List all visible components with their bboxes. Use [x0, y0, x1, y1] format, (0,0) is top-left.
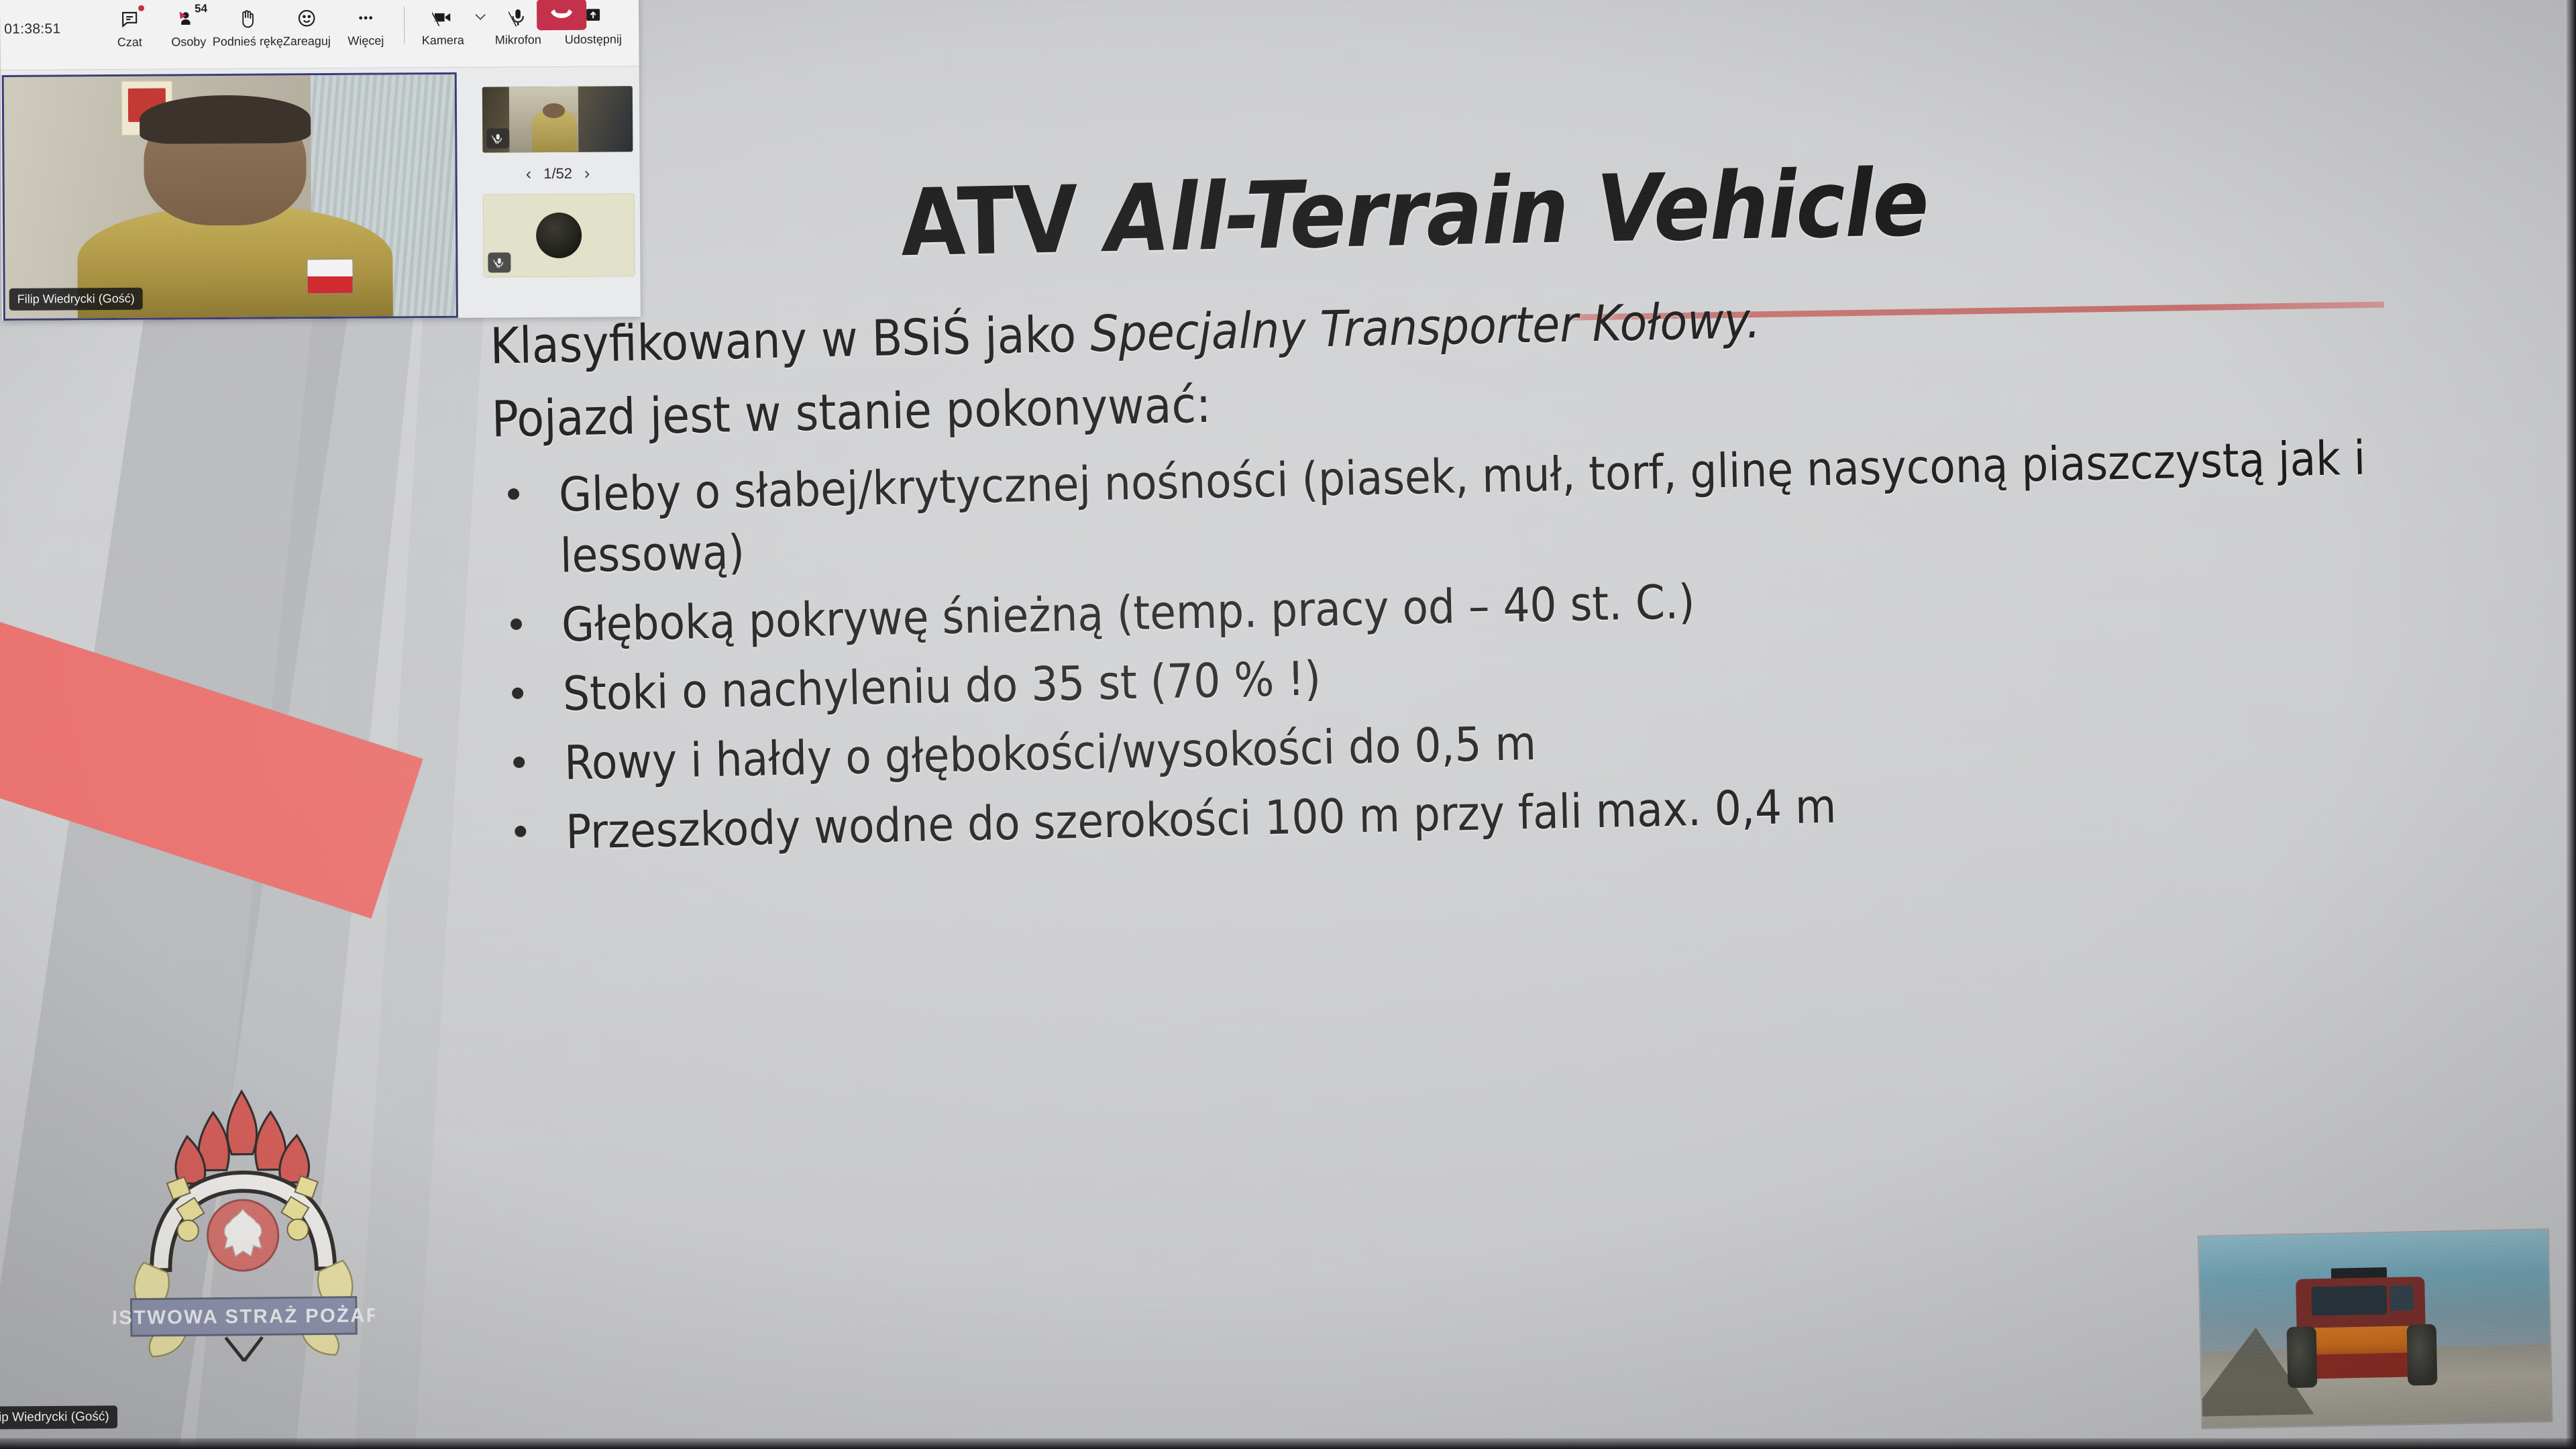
- chat-button-label: Czat: [117, 36, 142, 50]
- photo-edge-right: [2567, 0, 2576, 1449]
- call-duration-timer: 01:38:51: [4, 21, 60, 38]
- uniform-flag-patch: [307, 258, 354, 294]
- pager-count: 1/52: [543, 165, 572, 182]
- people-count-badge: 54: [195, 2, 207, 15]
- slide-title-italic: All-Terrain Vehicle: [1104, 149, 1929, 274]
- share-screen-icon: [584, 2, 602, 32]
- camera-button[interactable]: Kamera: [414, 0, 472, 48]
- teams-meeting-overlay: 01:38:51 Czat: [0, 0, 641, 321]
- bullet-dot-icon: [512, 688, 523, 699]
- people-button-label: Osoby: [171, 35, 206, 49]
- chat-button[interactable]: Czat: [101, 1, 158, 50]
- react-button-label: Zareaguj: [283, 34, 331, 48]
- hangup-button[interactable]: [537, 0, 586, 30]
- atv-vehicle-photo: [2198, 1228, 2553, 1429]
- psp-emblem-logo: PAŃSTWOWA STRAŻ POŻARNA: [111, 1077, 375, 1368]
- raise-hand-icon: [238, 4, 257, 34]
- emblem-banner-text: PAŃSTWOWA STRAŻ POŻARNA: [111, 1303, 375, 1330]
- bullet-dot-icon: [513, 757, 525, 768]
- hangup-icon: [549, 5, 574, 23]
- chat-unread-dot-icon: [138, 5, 144, 11]
- slide-body: Klasyfikowany w BSiŚ jako Specjalny Tran…: [490, 274, 2513, 873]
- mic-muted-badge: [486, 128, 509, 148]
- avatar: [536, 213, 582, 258]
- lead-1-italic: Specjalny Transporter Kołowy.: [1089, 292, 1761, 363]
- participant-thumbnail[interactable]: [483, 193, 635, 277]
- participant-rail: ‹ 1/52 ›: [482, 71, 638, 313]
- emoji-icon: [297, 3, 317, 33]
- microphone-button-label: Mikrofon: [495, 33, 541, 47]
- participant-pager: ‹ 1/52 ›: [482, 161, 633, 186]
- slide-title: ATV All-Terrain Vehicle: [900, 146, 2410, 273]
- main-video-tile[interactable]: Filip Wiedrycki (Gość): [2, 72, 458, 321]
- secondary-participant-nametag: Filip Wiedrycki (Gość): [0, 1405, 117, 1429]
- bullet-dot-icon: [511, 619, 522, 630]
- screenshot-stage: PAŃSTWOWA STRAŻ POŻARNA ATV All-Terrain …: [0, 0, 2576, 1449]
- camera-off-icon: [432, 3, 453, 32]
- raise-hand-button-label: Podnieś rękę: [213, 34, 283, 49]
- mic-muted-badge: [488, 252, 511, 272]
- raise-hand-button[interactable]: Podnieś rękę: [219, 0, 276, 49]
- slide-title-regular: ATV: [900, 166, 1107, 278]
- toolbar-divider: [404, 6, 405, 44]
- ellipsis-icon: [356, 3, 376, 33]
- camera-chevron-down-icon[interactable]: [473, 1, 488, 34]
- chat-icon: [119, 5, 140, 34]
- more-button-label: Więcej: [347, 34, 384, 48]
- react-button[interactable]: Zareaguj: [278, 0, 335, 48]
- people-button[interactable]: 54 Osoby: [160, 1, 217, 50]
- camera-button-label: Kamera: [422, 34, 464, 48]
- teams-call-toolbar: 01:38:51 Czat: [0, 0, 639, 70]
- photo-grain: [2199, 1230, 2552, 1428]
- bullet-dot-icon: [508, 488, 519, 500]
- microphone-off-icon: [508, 2, 527, 32]
- bullet-dot-icon: [515, 826, 526, 837]
- participant-hair: [139, 95, 311, 144]
- pager-next-button[interactable]: ›: [584, 165, 590, 182]
- share-button-label: Udostępnij: [565, 32, 622, 47]
- slide-bullet-list: Gleby o słabej/krytycznej nośności (pias…: [492, 425, 2513, 865]
- pager-prev-button[interactable]: ‹: [526, 166, 531, 182]
- photo-edge-bottom: [0, 1438, 2576, 1449]
- main-participant-nametag: Filip Wiedrycki (Gość): [9, 288, 143, 311]
- more-button[interactable]: Więcej: [337, 0, 394, 48]
- participant-thumbnail[interactable]: [482, 86, 633, 152]
